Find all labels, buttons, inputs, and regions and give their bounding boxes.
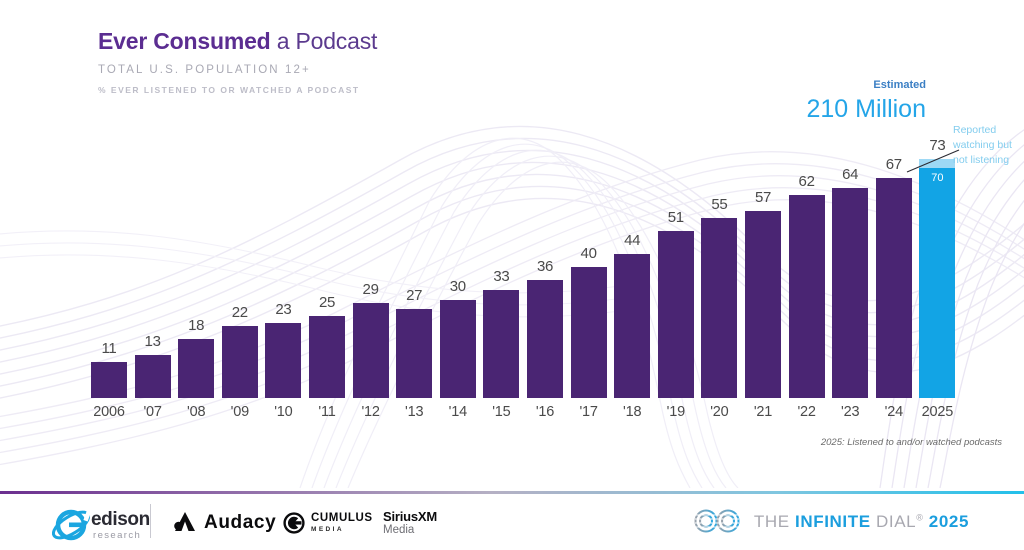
bar-value-label: 33 — [493, 269, 509, 284]
bar-value-label: 25 — [319, 295, 335, 310]
logo-edison-research: edison research — [45, 505, 150, 545]
bar-value-label: 23 — [275, 302, 291, 317]
bar-rect[interactable] — [832, 188, 868, 398]
edison-sub: research — [93, 531, 150, 541]
bar-rect[interactable] — [614, 254, 650, 398]
bar-rect[interactable] — [91, 362, 127, 398]
logo-siriusxm-media: SiriusXM Media — [383, 510, 437, 537]
bar-column-21[interactable]: 57 — [745, 190, 781, 398]
estimate-callout: Estimated 210 Million — [806, 80, 926, 122]
edison-wordmark: edison research — [91, 510, 150, 541]
bar-column-08[interactable]: 18 — [178, 318, 214, 398]
bar-rect[interactable] — [701, 218, 737, 398]
bar-column-11[interactable]: 25 — [309, 295, 345, 398]
bar-rect[interactable] — [571, 267, 607, 398]
bar-column-16[interactable]: 36 — [527, 259, 563, 398]
bar-rect[interactable] — [876, 178, 912, 398]
bar-rect[interactable] — [353, 303, 389, 398]
bar-rect[interactable] — [789, 195, 825, 398]
page-title: Ever Consumed a Podcast — [98, 28, 377, 54]
bar-rect[interactable] — [745, 211, 781, 398]
siriusxm-wordmark: SiriusXM Media — [383, 510, 437, 537]
bar-column-2006[interactable]: 11 — [91, 341, 127, 398]
x-axis-tick-2025: 2025 — [910, 404, 964, 420]
bar-column-12[interactable]: 29 — [353, 282, 389, 398]
bar-value-label: 27 — [406, 288, 422, 303]
siriusxm-name: SiriusXM — [383, 510, 437, 524]
infinite-dial-infinite: INFINITE — [795, 512, 871, 531]
bar-rect[interactable] — [527, 280, 563, 398]
bar-rect[interactable] — [483, 290, 519, 398]
footer-logo-separator — [150, 504, 151, 538]
audacy-name: Audacy — [204, 513, 276, 532]
cumulus-wordmark: CUMULUS MEDIA — [311, 513, 373, 533]
bar-value-label: 18 — [188, 318, 204, 333]
bar-value-label: 55 — [711, 197, 727, 212]
bar-rect[interactable] — [265, 323, 301, 398]
bar-column-23[interactable]: 64 — [832, 167, 868, 398]
bar-value-label: 40 — [581, 246, 597, 261]
bar-column-13[interactable]: 27 — [396, 288, 432, 398]
bar-rect[interactable] — [440, 300, 476, 398]
bar-column-22[interactable]: 62 — [789, 174, 825, 398]
bar-value-label: 29 — [363, 282, 379, 297]
bar-value-label: 11 — [102, 341, 117, 356]
bar-rect[interactable] — [222, 326, 258, 398]
bar-rect[interactable] — [396, 309, 432, 398]
bar-column-15[interactable]: 33 — [483, 269, 519, 398]
page-title-strong: Ever Consumed — [98, 28, 271, 54]
bar-value-label: 62 — [799, 174, 815, 189]
edison-name: edison — [91, 510, 150, 529]
logo-the-infinite-dial: THE INFINITE DIAL® 2025 — [692, 508, 969, 534]
bar-value-label: 51 — [668, 210, 684, 225]
annotation-watching-not-listening: Reported watching but not listening — [953, 123, 1024, 168]
bar-column-10[interactable]: 23 — [265, 302, 301, 398]
page-title-light: a Podcast — [271, 28, 378, 54]
bar-rect-highlighted[interactable]: 70 — [919, 159, 955, 398]
siriusxm-sub: Media — [383, 524, 437, 537]
bar-column-19[interactable]: 51 — [658, 210, 694, 398]
chart-header: Ever Consumed a Podcast TOTAL U.S. POPUL… — [98, 28, 377, 95]
logo-audacy: Audacy — [172, 511, 276, 533]
estimate-value: 210 Million — [806, 97, 926, 122]
logo-cumulus-media: CUMULUS MEDIA — [283, 512, 373, 534]
footer-logo-bar: edison research Audacy CUMULUS MEDIA Sir… — [0, 494, 1024, 550]
bar-rect[interactable] — [658, 231, 694, 398]
bar-column-17[interactable]: 40 — [571, 246, 607, 398]
infinite-dial-year: 2025 — [923, 512, 969, 531]
bar-rect[interactable] — [309, 316, 345, 398]
axis-footnote: 2025: Listened to and/or watched podcast… — [821, 437, 1002, 448]
bar-column-20[interactable]: 55 — [701, 197, 737, 398]
bar-value-label: 67 — [886, 157, 902, 172]
cumulus-name: CUMULUS — [311, 513, 373, 525]
bar-rect[interactable] — [135, 355, 171, 398]
bar-value-label: 13 — [145, 334, 161, 349]
audacy-mark-icon — [172, 511, 198, 533]
cumulus-mark-icon — [283, 512, 305, 534]
infinite-dial-infinity-icon — [692, 508, 744, 534]
bar-column-09[interactable]: 22 — [222, 305, 258, 398]
bar-rect[interactable] — [178, 339, 214, 398]
bar-value-label: 44 — [624, 233, 640, 248]
chart-subtitle: TOTAL U.S. POPULATION 12+ — [98, 64, 377, 76]
infinite-dial-the: THE — [754, 512, 795, 531]
bar-value-label: 57 — [755, 190, 771, 205]
bar-value-label: 64 — [842, 167, 858, 182]
bar-column-14[interactable]: 30 — [440, 279, 476, 398]
bar-value-label: 30 — [450, 279, 466, 294]
bar-value-label: 36 — [537, 259, 553, 274]
bar-column-24[interactable]: 67 — [876, 157, 912, 398]
bar-column-18[interactable]: 44 — [614, 233, 650, 398]
cumulus-sub: MEDIA — [311, 527, 373, 534]
bar-column-07[interactable]: 13 — [135, 334, 171, 398]
bar-value-label: 22 — [232, 305, 248, 320]
chart-metric-label: % EVER LISTENED TO OR WATCHED A PODCAST — [98, 85, 377, 95]
estimate-label: Estimated — [806, 80, 926, 91]
infinite-dial-dial: DIAL — [871, 512, 917, 531]
infinite-dial-wordmark: THE INFINITE DIAL® 2025 — [754, 513, 969, 530]
